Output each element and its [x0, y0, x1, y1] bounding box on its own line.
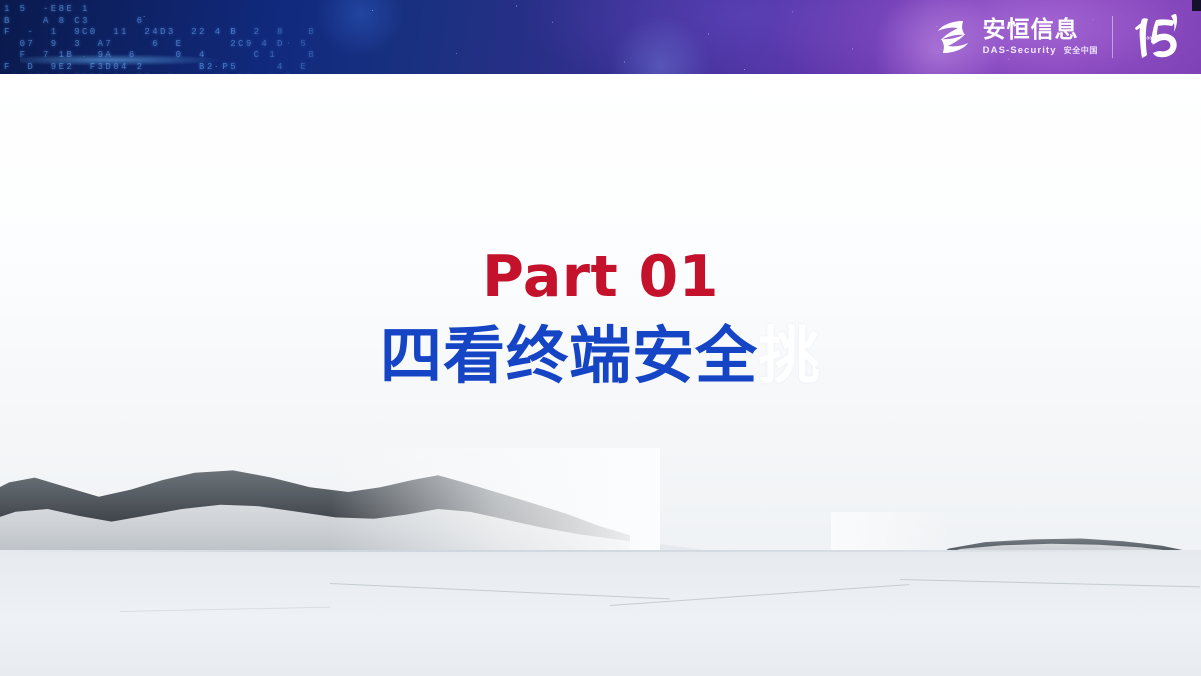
slide-heading: 四看终端安全 挑 [380, 323, 821, 389]
slide-heading-visible: 四看终端安全 [380, 323, 758, 389]
company-name-en: DAS-Security [983, 45, 1057, 56]
part-number-label: Part 01 [482, 246, 719, 308]
logo-lockup: 安恒信息 DAS-Security 安全中国 [932, 7, 1185, 67]
company-name-block: 安恒信息 DAS-Security 安全中国 [983, 18, 1098, 56]
presentation-slide: 1 5 -E8E 1 B A 8 C3 6 F - 1 9C0 11 24D3 … [0, 0, 1201, 676]
ice-crack [120, 607, 330, 612]
banner-corner-notch [1192, 0, 1201, 11]
company-logo: 安恒信息 DAS-Security 安全中国 [932, 16, 1098, 58]
top-banner: 1 5 -E8E 1 B A 8 C3 6 F - 1 9C0 11 24D3 … [0, 0, 1201, 74]
ice-crack [330, 583, 670, 599]
banner-glow-streak [20, 52, 320, 68]
das-security-swoosh-icon [932, 16, 974, 58]
logo-divider [1112, 16, 1113, 58]
slide-title-block: Part 01 四看终端安全 挑 [0, 246, 1201, 389]
company-tagline-cn: 安全中国 [1064, 46, 1098, 56]
company-subtitle: DAS-Security 安全中国 [983, 45, 1098, 56]
anniversary-15-icon: 2007-2022 [1127, 12, 1185, 62]
ice-crack [900, 579, 1200, 587]
ice-crack [610, 584, 909, 606]
company-name-cn: 安恒信息 [983, 18, 1098, 43]
frozen-lake [0, 550, 1201, 676]
slide-heading-ghost-char: 挑 [758, 323, 821, 389]
